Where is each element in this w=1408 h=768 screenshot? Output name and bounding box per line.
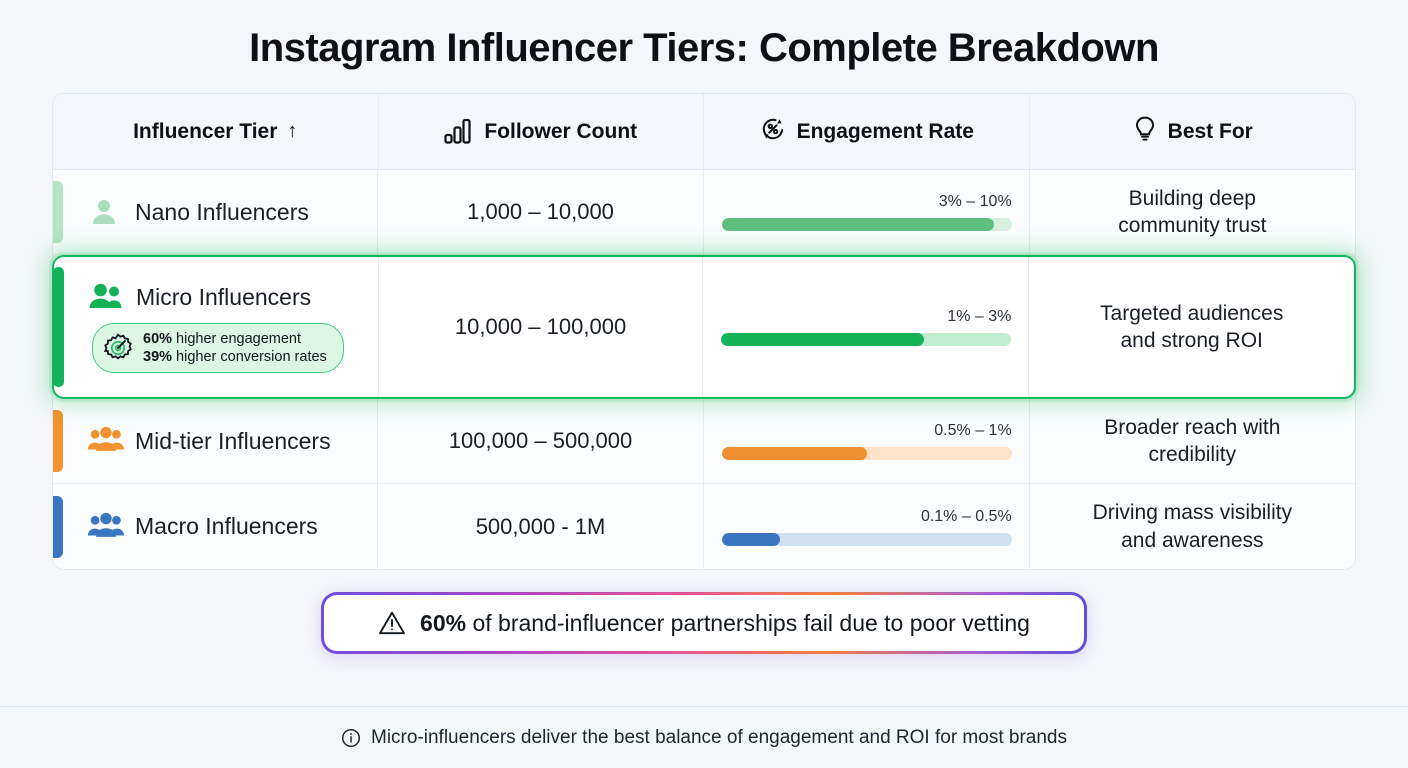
micro-highlight-badge: 60% higher engagement 39% higher convers… xyxy=(92,323,344,373)
best-for-text: Broader reach with credibility xyxy=(1104,414,1280,469)
follower-range: 100,000 – 500,000 xyxy=(449,428,633,454)
row-accent-bar xyxy=(53,181,63,243)
column-header-engagement-rate[interactable]: Engagement Rate xyxy=(704,94,1030,169)
engagement-bar-fill xyxy=(722,533,780,546)
column-header-label: Influencer Tier xyxy=(133,120,277,144)
tier-name: Macro Influencers xyxy=(135,513,318,540)
engagement-rate-label: 1% – 3% xyxy=(721,308,1011,326)
badge-text-engagement: higher engagement xyxy=(172,331,301,347)
cell-influencer-tier: Micro Influencers 60% highe xyxy=(54,257,379,397)
cell-engagement-rate: 0.1% – 0.5% xyxy=(704,484,1030,569)
cell-follower-count: 100,000 – 500,000 xyxy=(378,399,703,483)
page-title: Instagram Influencer Tiers: Complete Bre… xyxy=(0,0,1408,93)
engagement-rate-label: 0.5% – 1% xyxy=(722,422,1012,440)
cell-follower-count: 500,000 - 1M xyxy=(378,484,703,569)
follower-range: 500,000 - 1M xyxy=(476,514,606,540)
best-for-text: Targeted audiences and strong ROI xyxy=(1100,300,1283,355)
cell-influencer-tier: Nano Influencers xyxy=(53,170,378,254)
badge-line-2: 39% higher conversion rates xyxy=(143,348,327,366)
column-header-influencer-tier[interactable]: Influencer Tier ↑ xyxy=(53,94,379,169)
best-for-text: Building deep community trust xyxy=(1118,185,1266,240)
callout-body: of brand-influencer partnerships fail du… xyxy=(466,610,1030,636)
person-icon xyxy=(87,195,121,229)
cell-follower-count: 1,000 – 10,000 xyxy=(378,170,703,254)
badge-text-conversion: higher conversion rates xyxy=(172,349,327,365)
footer-bar: Micro-influencers deliver the best balan… xyxy=(0,706,1408,768)
sort-ascending-icon[interactable]: ↑ xyxy=(287,120,297,143)
table-row-highlighted[interactable]: Micro Influencers 60% highe xyxy=(52,255,1356,399)
infographic-page: Instagram Influencer Tiers: Complete Bre… xyxy=(0,0,1408,768)
badge-value-engagement: 60% xyxy=(143,331,172,347)
footer-text: Micro-influencers deliver the best balan… xyxy=(371,727,1067,749)
bar-chart-icon xyxy=(444,120,474,144)
row-accent-bar xyxy=(53,496,63,558)
tier-name: Mid-tier Influencers xyxy=(135,428,331,455)
follower-range: 1,000 – 10,000 xyxy=(467,199,614,225)
three-people-icon xyxy=(87,424,121,458)
column-header-best-for[interactable]: Best For xyxy=(1030,94,1356,169)
row-accent-bar xyxy=(52,267,64,387)
three-people-icon xyxy=(87,510,121,544)
tier-name: Micro Influencers xyxy=(136,284,311,311)
row-accent-bar xyxy=(53,410,63,472)
info-icon xyxy=(341,728,361,748)
cell-best-for: Driving mass visibility and awareness xyxy=(1030,484,1355,569)
two-people-icon xyxy=(88,281,122,315)
warning-callout: 60% of brand-influencer partnerships fai… xyxy=(321,592,1087,654)
engagement-bar-track xyxy=(721,333,1011,346)
callout-value: 60% xyxy=(420,610,466,636)
cell-influencer-tier: Macro Influencers xyxy=(53,484,378,569)
column-header-label: Best For xyxy=(1168,120,1253,144)
cell-best-for: Building deep community trust xyxy=(1030,170,1355,254)
cell-best-for: Broader reach with credibility xyxy=(1030,399,1355,483)
best-for-text: Driving mass visibility and awareness xyxy=(1093,499,1293,554)
column-header-label: Engagement Rate xyxy=(797,120,974,144)
cell-engagement-rate: 3% – 10% xyxy=(704,170,1030,254)
target-badge-icon xyxy=(103,333,133,363)
follower-range: 10,000 – 100,000 xyxy=(455,314,626,340)
badge-line-1: 60% higher engagement xyxy=(143,330,327,348)
influencer-tier-table: Influencer Tier ↑ Follower Count xyxy=(52,93,1356,570)
warning-triangle-icon xyxy=(378,609,406,637)
table-header-row: Influencer Tier ↑ Follower Count xyxy=(53,94,1355,170)
table-row[interactable]: Mid-tier Influencers 100,000 – 500,000 0… xyxy=(53,399,1355,484)
warning-callout-inner: 60% of brand-influencer partnerships fai… xyxy=(324,595,1084,651)
table-row[interactable]: Macro Influencers 500,000 - 1M 0.1% – 0.… xyxy=(53,484,1355,569)
percent-refresh-icon xyxy=(759,115,787,149)
cell-follower-count: 10,000 – 100,000 xyxy=(379,257,704,397)
engagement-bar-track xyxy=(722,447,1012,460)
cell-influencer-tier: Mid-tier Influencers xyxy=(53,399,378,483)
cell-engagement-rate: 0.5% – 1% xyxy=(704,399,1030,483)
table-row[interactable]: Nano Influencers 1,000 – 10,000 3% – 10% xyxy=(53,170,1355,255)
engagement-rate-label: 0.1% – 0.5% xyxy=(722,508,1012,526)
column-header-label: Follower Count xyxy=(484,120,637,144)
engagement-rate-label: 3% – 10% xyxy=(722,193,1012,211)
table-wrapper: Influencer Tier ↑ Follower Count xyxy=(0,93,1408,570)
cell-engagement-rate: 1% – 3% xyxy=(703,257,1029,397)
lightbulb-icon xyxy=(1132,115,1158,149)
engagement-bar-fill xyxy=(722,447,867,460)
cell-best-for: Targeted audiences and strong ROI xyxy=(1029,257,1354,397)
column-header-follower-count[interactable]: Follower Count xyxy=(379,94,705,169)
engagement-bar-track xyxy=(722,533,1012,546)
engagement-bar-fill xyxy=(721,333,924,346)
callout-text: 60% of brand-influencer partnerships fai… xyxy=(420,610,1030,637)
callout-wrapper: 60% of brand-influencer partnerships fai… xyxy=(0,570,1408,654)
badge-value-conversion: 39% xyxy=(143,349,172,365)
tier-name: Nano Influencers xyxy=(135,199,309,226)
engagement-bar-track xyxy=(722,218,1012,231)
engagement-bar-fill xyxy=(722,218,995,231)
